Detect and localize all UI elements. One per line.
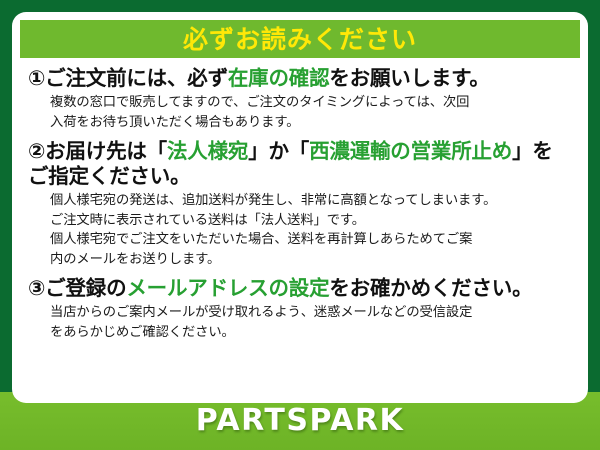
notice-item-text: をお確かめください。 — [329, 276, 532, 300]
notice-item-subtext-line: 当店からのご案内メールが受け取れるよう、迷惑メールなどの受信設定 — [50, 303, 570, 323]
notice-banner: PARTSPARK 必ずお読みください ①ご注文前には、必ず在庫の確認をお願いし… — [0, 0, 600, 450]
notice-item-heading: ①ご注文前には、必ず在庫の確認をお願いします。 — [28, 66, 570, 91]
notice-item-subtext-line: をあらかじめご確認ください。 — [50, 323, 570, 343]
notice-item: ①ご注文前には、必ず在庫の確認をお願いします。複数の窓口で販売してますので、ご注… — [28, 66, 570, 132]
notice-item-text: お届け先は「 — [45, 139, 167, 163]
notice-item-text: ご登録の — [45, 276, 126, 300]
notice-item-subtext-line: 入荷をお待ち頂いただく場合もあります。 — [50, 113, 570, 133]
notice-item-subtext-line: 個人様宅宛の発送は、追加送料が発生し、非常に高額となってしまいます。 — [50, 191, 570, 211]
notice-item-text: 」か「 — [248, 139, 309, 163]
notice-items-list: ①ご注文前には、必ず在庫の確認をお願いします。複数の窓口で販売してますので、ご注… — [20, 58, 580, 342]
notice-panel: 必ずお読みください ①ご注文前には、必ず在庫の確認をお願いします。複数の窓口で販… — [12, 12, 588, 403]
notice-item-text: ご注文前には、必ず — [45, 66, 228, 90]
notice-item-subtext-line: ご注文時に表示されている送料は「法人送料」です。 — [50, 211, 570, 231]
notice-item-subtext-line: 内のメールをお送りします。 — [50, 250, 570, 270]
brand-logo-text: PARTSPARK — [196, 406, 405, 436]
notice-item-marker: ② — [28, 139, 45, 163]
notice-item-highlight: メールアドレスの設定 — [126, 276, 329, 300]
notice-item: ③ご登録のメールアドレスの設定をお確かめください。当店からのご案内メールが受け取… — [28, 276, 570, 342]
notice-item-marker: ③ — [28, 276, 45, 300]
notice-item-subtext: 当店からのご案内メールが受け取れるよう、迷惑メールなどの受信設定をあらかじめご確… — [50, 303, 570, 342]
notice-item-heading: ②お届け先は「法人様宛」か「西濃運輸の営業所止め」をご指定ください。 — [28, 139, 570, 189]
notice-header-band: 必ずお読みください — [20, 20, 580, 58]
notice-item: ②お届け先は「法人様宛」か「西濃運輸の営業所止め」をご指定ください。個人様宅宛の… — [28, 139, 570, 269]
notice-item-text: をお願いします。 — [329, 66, 489, 90]
notice-item-highlight: 在庫の確認 — [228, 66, 330, 90]
notice-item-subtext-line: 複数の窓口で販売してますので、ご注文のタイミングによっては、次回 — [50, 93, 570, 113]
notice-item-subtext-line: 個人様宅宛でご注文をいただいた場合、送料を再計算しあらためてご案 — [50, 230, 570, 250]
notice-item-heading: ③ご登録のメールアドレスの設定をお確かめください。 — [28, 276, 570, 301]
notice-item-subtext: 個人様宅宛の発送は、追加送料が発生し、非常に高額となってしまいます。ご注文時に表… — [50, 191, 570, 269]
notice-title: 必ずお読みください — [183, 27, 417, 52]
notice-item-highlight: 西濃運輸の営業所止め — [309, 139, 512, 163]
notice-item-highlight: 法人様宛 — [167, 139, 248, 163]
notice-item-subtext: 複数の窓口で販売してますので、ご注文のタイミングによっては、次回入荷をお待ち頂い… — [50, 93, 570, 132]
notice-item-marker: ① — [28, 66, 45, 90]
